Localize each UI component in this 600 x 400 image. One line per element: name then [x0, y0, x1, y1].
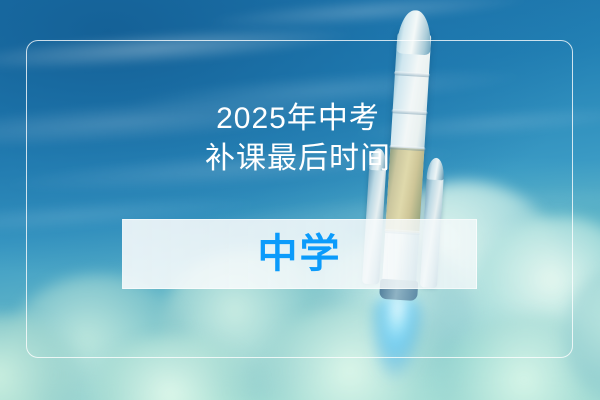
poster-title: 2025年中考 补课最后时间 — [0, 99, 600, 179]
category-label: 中学 — [258, 234, 342, 274]
category-panel[interactable]: 中学 — [122, 219, 477, 289]
title-line-2: 补课最后时间 — [0, 139, 596, 179]
poster-canvas: 2025年中考 补课最后时间 中学 — [0, 0, 600, 400]
title-line-1: 2025年中考 — [0, 99, 596, 139]
